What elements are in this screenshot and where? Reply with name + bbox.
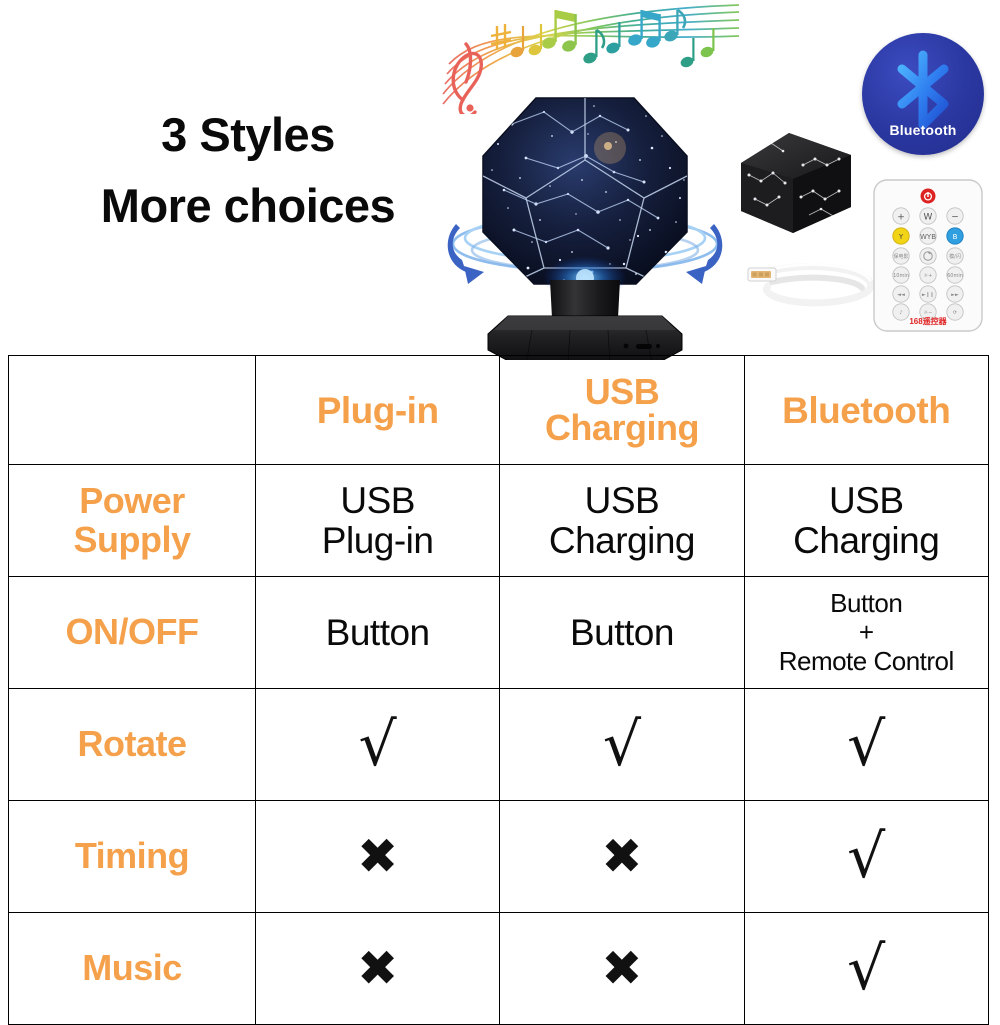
svg-text:►►: ►► (951, 292, 959, 298)
svg-text:−: − (951, 213, 959, 223)
check-icon: √ (749, 715, 984, 775)
headline-line-1: 3 Styles (48, 100, 448, 171)
row-label-line-1: Rotate (13, 725, 251, 764)
svg-text:+: + (897, 213, 905, 223)
cell-line-2: Remote Control (749, 647, 984, 676)
row-label-music: Music (9, 913, 256, 1025)
row-label-on-off: ON/OFF (9, 577, 256, 689)
cell-plus-sign: + (749, 618, 984, 647)
cell-timing-bluetooth: √ (744, 801, 988, 913)
cell-line-1: USB (260, 481, 495, 520)
cross-icon: ✖ (260, 944, 495, 993)
comparison-table: Plug-in USB Charging Bluetooth Power Sup… (8, 355, 989, 1025)
check-icon: √ (504, 715, 739, 775)
cell-rotate-usb-charging: √ (500, 689, 744, 801)
header-plug-in-label: Plug-in (260, 392, 495, 429)
cell-on-off-plug-in: Button (256, 577, 500, 689)
check-icon: √ (749, 827, 984, 887)
bluetooth-badge: Bluetooth (862, 33, 984, 155)
table-corner-cell (9, 356, 256, 465)
constellation-gift-box (735, 125, 857, 240)
headline-line-2: More choices (48, 171, 448, 242)
svg-text:保电影: 保电影 (893, 253, 908, 260)
cell-power-supply-usb-charging: USB Charging (500, 465, 744, 577)
svg-text:60min: 60min (947, 273, 963, 279)
row-label-power-supply: Power Supply (9, 465, 256, 577)
svg-text:☼+: ☼+ (924, 273, 933, 279)
bluetooth-label: Bluetooth (862, 122, 984, 138)
cross-icon: ✖ (504, 832, 739, 881)
header-usb-charging-line-2: Charging (504, 410, 739, 446)
table-header-row: Plug-in USB Charging Bluetooth (9, 356, 989, 465)
row-label-line-1: Power (13, 482, 251, 521)
row-label-timing: Timing (9, 801, 256, 913)
cell-line-2: Charging (504, 521, 739, 560)
remote-control: +W− Y WYB B 保电影模/闪 10min60min ☼+ (872, 178, 984, 333)
svg-text:WYB: WYB (920, 233, 936, 241)
svg-text:Y: Y (898, 233, 904, 241)
header-cell-usb-charging: USB Charging (500, 356, 744, 465)
row-label-line-1: Timing (13, 837, 251, 876)
hero-section: 3 Styles More choices (0, 0, 1000, 355)
page-title: 3 Styles More choices (48, 100, 448, 241)
cell-line-1: USB (749, 481, 984, 520)
header-bluetooth-label: Bluetooth (749, 392, 984, 429)
usb-cable (742, 246, 882, 318)
cell-power-supply-plug-in: USB Plug-in (256, 465, 500, 577)
header-cell-bluetooth: Bluetooth (744, 356, 988, 465)
cell-on-off-usb-charging: Button (500, 577, 744, 689)
table-row-power-supply: Power Supply USB Plug-in USB Charging US… (9, 465, 989, 577)
svg-text:◄◄: ◄◄ (897, 292, 905, 298)
svg-text:模/闪: 模/闪 (949, 253, 961, 260)
cell-music-usb-charging: ✖ (500, 913, 744, 1025)
cell-line-2: Charging (749, 521, 984, 560)
check-icon: √ (260, 715, 495, 775)
cross-icon: ✖ (504, 944, 739, 993)
row-label-line-1: ON/OFF (13, 613, 251, 652)
cell-line-1: Button (504, 613, 739, 652)
table-row-on-off: ON/OFF Button Button Button + Remote Con… (9, 577, 989, 689)
cell-power-supply-bluetooth: USB Charging (744, 465, 988, 577)
cell-timing-usb-charging: ✖ (500, 801, 744, 913)
row-label-line-2: Supply (13, 521, 251, 560)
svg-text:B: B (953, 233, 958, 241)
table-row-rotate: Rotate √ √ √ (9, 689, 989, 801)
check-icon: √ (749, 939, 984, 999)
row-label-line-1: Music (13, 949, 251, 988)
star-projector-lamp (440, 72, 730, 360)
cell-line-1: USB (504, 481, 739, 520)
cell-rotate-bluetooth: √ (744, 689, 988, 801)
table-row-timing: Timing ✖ ✖ √ (9, 801, 989, 913)
table-row-music: Music ✖ ✖ √ (9, 913, 989, 1025)
svg-text:10min: 10min (893, 273, 909, 279)
svg-text:►❙❙: ►❙❙ (922, 292, 934, 298)
cross-icon: ✖ (260, 832, 495, 881)
cell-rotate-plug-in: √ (256, 689, 500, 801)
header-cell-plug-in: Plug-in (256, 356, 500, 465)
row-label-rotate: Rotate (9, 689, 256, 801)
cell-music-bluetooth: √ (744, 913, 988, 1025)
cell-line-1: Button (749, 589, 984, 618)
svg-text:W: W (924, 213, 933, 223)
cell-line-2: Plug-in (260, 521, 495, 560)
cell-line-1: Button (260, 613, 495, 652)
cell-timing-plug-in: ✖ (256, 801, 500, 913)
cell-on-off-bluetooth: Button + Remote Control (744, 577, 988, 689)
header-usb-charging-line-1: USB (504, 374, 739, 410)
remote-caption: 168遥控器 (872, 316, 984, 327)
cell-music-plug-in: ✖ (256, 913, 500, 1025)
